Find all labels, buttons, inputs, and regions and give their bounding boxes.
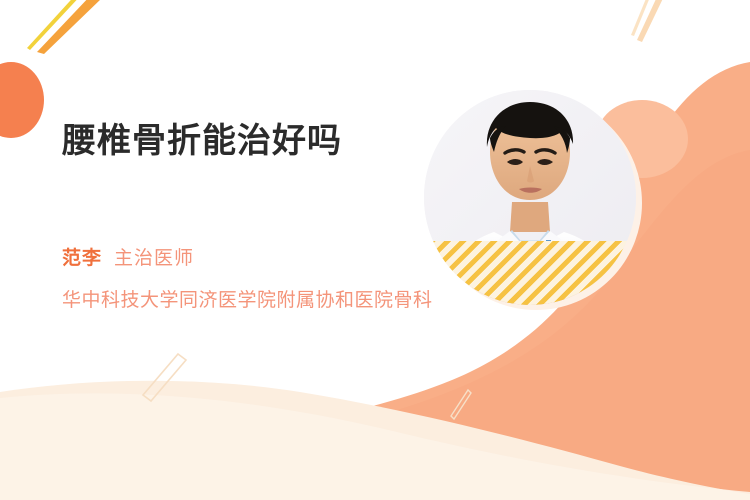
page-title: 腰椎骨折能治好吗: [62, 113, 342, 162]
doctor-hospital: 华中科技大学同济医学院附属协和医院骨科: [62, 288, 454, 315]
diagonal-stripes-top-left-icon: [18, 0, 108, 56]
diagonal-outline-line-left-icon: [138, 352, 192, 404]
doctor-name: 范李: [62, 248, 102, 269]
portrait-bottom-stripes: [424, 241, 636, 305]
diagonal-outline-line-right-icon: [448, 388, 474, 422]
doctor-info-card: 腰椎骨折能治好吗 范李主治医师 华中科技大学同济医学院附属协和医院骨科: [0, 0, 750, 500]
doctor-rank: 主治医师: [114, 248, 194, 269]
diagonal-stripes-top-right-icon: [628, 0, 698, 48]
doctor-portrait: [424, 90, 636, 305]
doctor-name-row: 范李主治医师: [62, 249, 194, 268]
